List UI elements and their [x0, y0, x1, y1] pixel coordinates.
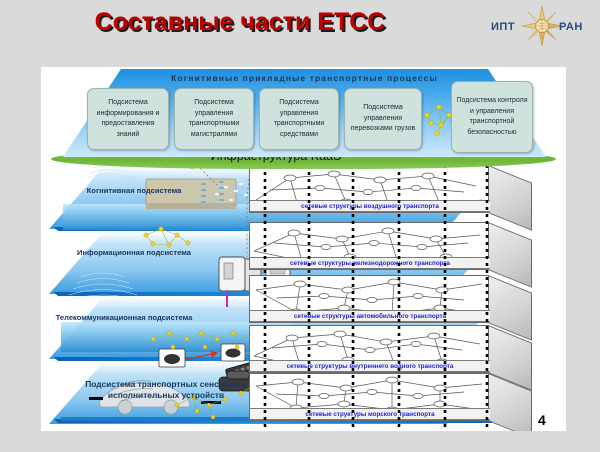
platform-label-road: сетевые структуры автомобильного транспо…	[250, 310, 490, 322]
logo-left-text: ИПТ	[491, 21, 515, 33]
subsystem-box-information[interactable]: Подсистема информирования и предоставлен…	[87, 88, 169, 150]
platform-label-inland-water: сетевые структуры внутреннего водного тр…	[250, 360, 490, 372]
network-platform-rail: сетевые структуры железнодорожного транс…	[249, 222, 529, 280]
water-surface-upper	[63, 204, 263, 230]
platform-face-inland-water: сетевые структуры внутреннего водного тр…	[249, 325, 489, 373]
platform-face-rail: сетевые структуры железнодорожного транс…	[249, 222, 489, 270]
layer-label-information: Информационная подсистема	[59, 247, 209, 258]
subsystem-box-highways[interactable]: Подсистема управления транспортными маги…	[174, 88, 254, 150]
network-platform-sea: сетевые структуры морского транспорта	[249, 373, 529, 431]
layer-label-cognitive: Когнитивная подсистема	[59, 185, 209, 196]
platform-face-air: сетевые структуры воздушного транспорта	[249, 165, 489, 213]
compass-star-icon	[521, 5, 563, 47]
slide-canvas: сетевые структуры воздушного транспорта	[41, 67, 566, 431]
platform-face-road: сетевые структуры автомобильного транспо…	[249, 275, 489, 323]
page-number: 4	[538, 412, 546, 428]
title-bar: Составные части ЕТСС ИПТ	[0, 0, 600, 67]
infrastructure-label: Инфраструктура KaaS	[51, 149, 501, 163]
network-platform-air: сетевые структуры воздушного транспорта	[249, 165, 529, 223]
organization-logo: ИПТ	[487, 4, 591, 48]
platform-label-rail: сетевые структуры железнодорожного транс…	[250, 257, 490, 269]
platform-side-sea	[488, 373, 532, 431]
platform-face-sea: сетевые структуры морского транспорта	[249, 373, 489, 421]
platform-side-air	[488, 165, 532, 231]
layer-label-telecom: Телекоммуникационная подсистема	[49, 312, 199, 323]
page-title: Составные части ЕТСС	[0, 8, 480, 37]
layer-label-sensors: Подсистема транспортных сенсоров и испол…	[51, 379, 281, 401]
logo-right-text: РАН	[559, 21, 583, 33]
platform-label-sea: сетевые структуры морского транспорта	[250, 408, 490, 420]
slide-screenshot: Составные части ЕТСС ИПТ	[0, 0, 600, 452]
platform-label-air: сетевые структуры воздушного транспорта	[250, 200, 490, 212]
subsystem-box-vehicles[interactable]: Подсистема управления транспортными сред…	[259, 88, 339, 150]
subsystem-box-security[interactable]: Подсистема контроля и управления транспо…	[451, 81, 533, 153]
subsystem-box-freight[interactable]: Подсистема управления перевозками грузов	[344, 88, 422, 150]
